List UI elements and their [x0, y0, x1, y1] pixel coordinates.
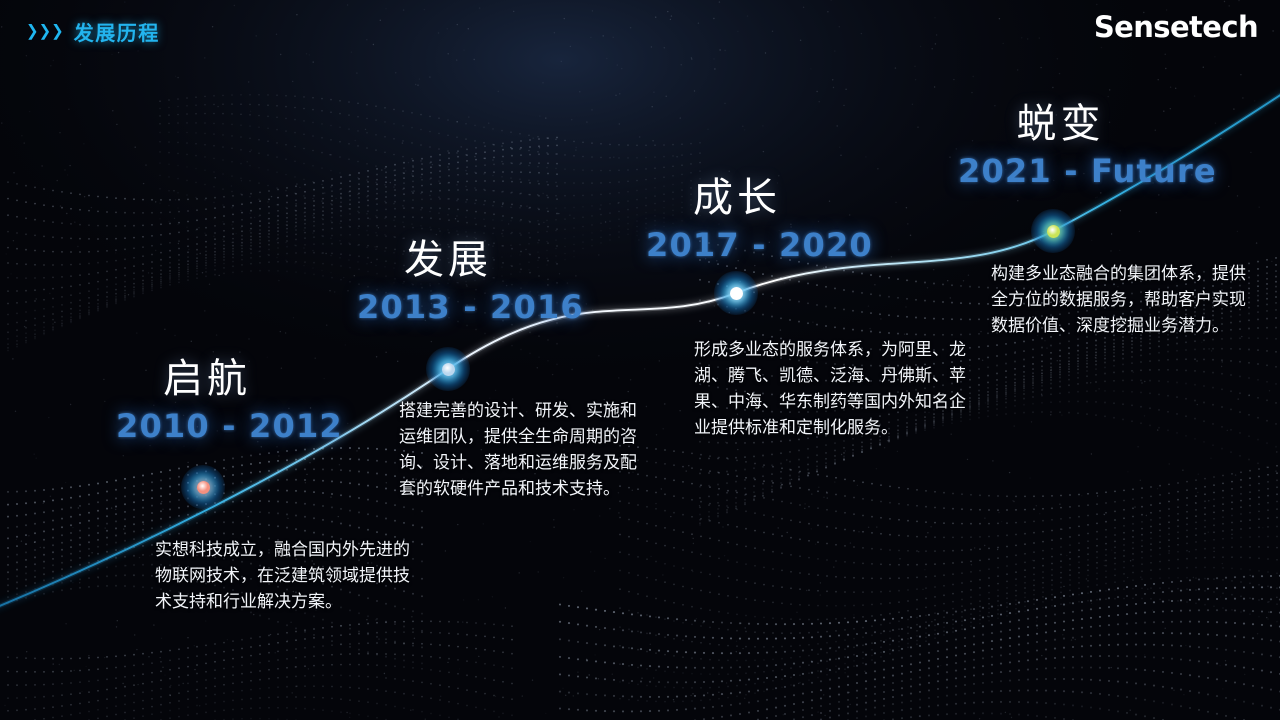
milestone-years: 2013 - 2016	[357, 291, 539, 323]
milestone-node-tuibian[interactable]	[1030, 208, 1076, 254]
node-core	[1047, 225, 1060, 238]
milestone-description-tuibian: 构建多业态融合的集团体系，提供全方位的数据服务，帮助客户实现数据价值、深度挖掘业…	[991, 261, 1247, 339]
milestone-title: 启航	[116, 359, 298, 399]
node-core	[442, 363, 455, 376]
node-core	[730, 287, 743, 300]
slide-header: ❯❯❯ 发展历程	[0, 0, 1280, 62]
milestone-description-chengzhang: 形成多业态的服务体系，为阿里、龙湖、腾飞、凯德、泛海、丹佛斯、苹果、中海、华东制…	[694, 337, 970, 441]
milestone-title: 发展	[357, 240, 539, 280]
node-core	[197, 481, 210, 494]
milestone-description-fazhan: 搭建完善的设计、研发、实施和运维团队，提供全生命周期的咨询、设计、落地和运维服务…	[399, 398, 649, 502]
milestone-description-qihang: 实想科技成立，融合国内外先进的物联网技术，在泛建筑领域提供技术支持和行业解决方案…	[155, 537, 425, 615]
slide-canvas: ❯❯❯ 发展历程 Sensetech	[0, 0, 1280, 720]
milestone-node-qihang[interactable]	[180, 464, 226, 510]
brand-logo: Sensetech	[1094, 10, 1258, 44]
milestone-title: 蜕变	[958, 104, 1163, 144]
milestone-heading-tuibian: 蜕变 2021 - Future	[958, 104, 1163, 187]
milestone-years: 2021 - Future	[958, 155, 1163, 187]
milestone-title: 成长	[646, 178, 828, 218]
milestone-years: 2017 - 2020	[646, 229, 828, 261]
milestone-years: 2010 - 2012	[116, 410, 298, 442]
milestone-heading-qihang: 启航 2010 - 2012	[116, 359, 298, 442]
page-title: 发展历程	[74, 17, 160, 46]
milestone-node-fazhan[interactable]	[425, 346, 471, 392]
milestone-node-chengzhang[interactable]	[713, 270, 759, 316]
milestone-heading-chengzhang: 成长 2017 - 2020	[646, 178, 828, 261]
milestone-heading-fazhan: 发展 2013 - 2016	[357, 240, 539, 323]
chevron-right-triple-icon: ❯❯❯	[26, 24, 63, 39]
